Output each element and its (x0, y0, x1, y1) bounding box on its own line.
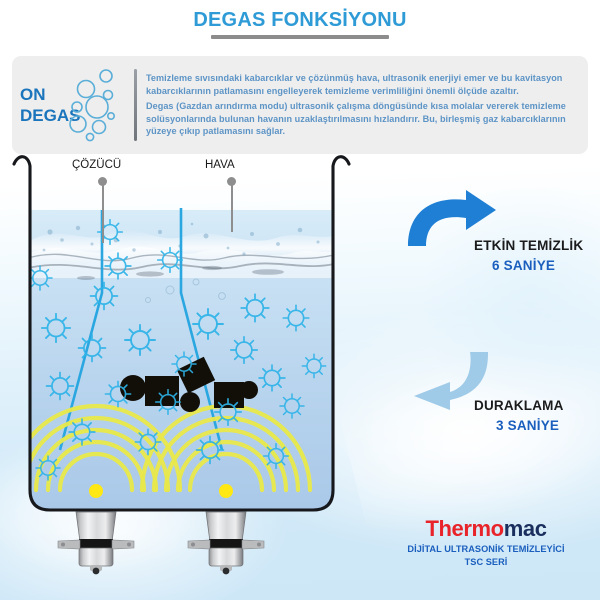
label-solvent: ÇÖZÜCÜ (72, 159, 121, 171)
info-panel: ON DEGAS Temizleme sıvısındaki kabarcıkl… (12, 56, 588, 154)
ultrasonic-transducer (188, 512, 264, 574)
ultrasonic-transducer (58, 512, 134, 574)
brand-series: TSC SERİ (378, 556, 594, 569)
info-panel-text: Temizleme sıvısındaki kabarcıklar ve çöz… (146, 72, 588, 137)
info-paragraph-1: Temizleme sıvısındaki kabarcıklar ve çöz… (146, 72, 578, 97)
tank-illustration (0, 150, 410, 600)
brand-tagline: DİJİTAL ULTRASONİK TEMİZLEYİCİ (378, 543, 594, 556)
callout-pause: DURAKLAMA 3 SANİYE (404, 350, 499, 417)
page-title-text: DEGAS FONKSİYONU (193, 8, 406, 32)
info-paragraph-2: Degas (Gazdan arındırma modu) ultrasonik… (146, 100, 578, 137)
callout-effective-cleaning: ETKİN TEMİZLİK 6 SANİYE (404, 188, 499, 255)
ultrasonic-tank-diagram: ÇÖZÜCÜ HAVA (0, 150, 410, 600)
brand-block: Thermomac DİJİTAL ULTRASONİK TEMİZLEYİCİ… (378, 516, 594, 569)
panel-divider (134, 69, 137, 141)
bubbles-icon (66, 67, 124, 143)
brand-name: Thermomac (378, 516, 594, 542)
label-air: HAVA (205, 159, 235, 171)
page-title: DEGAS FONKSİYONU (0, 8, 600, 39)
transducer-emit-point (219, 484, 233, 498)
label-solvent-leader-line (102, 184, 104, 243)
on-degas-badge: ON DEGAS (12, 56, 134, 154)
callout-title: ETKİN TEMİZLİK (474, 238, 583, 253)
transducer-emit-point (89, 484, 103, 498)
brand-name-part2: mac (504, 516, 547, 541)
label-air-leader-line (231, 184, 233, 232)
callout-title: DURAKLAMA (474, 398, 564, 413)
title-underline (211, 35, 389, 39)
callout-value: 3 SANİYE (496, 418, 559, 433)
brand-name-part1: Thermo (425, 516, 503, 541)
callout-value: 6 SANİYE (492, 258, 555, 273)
